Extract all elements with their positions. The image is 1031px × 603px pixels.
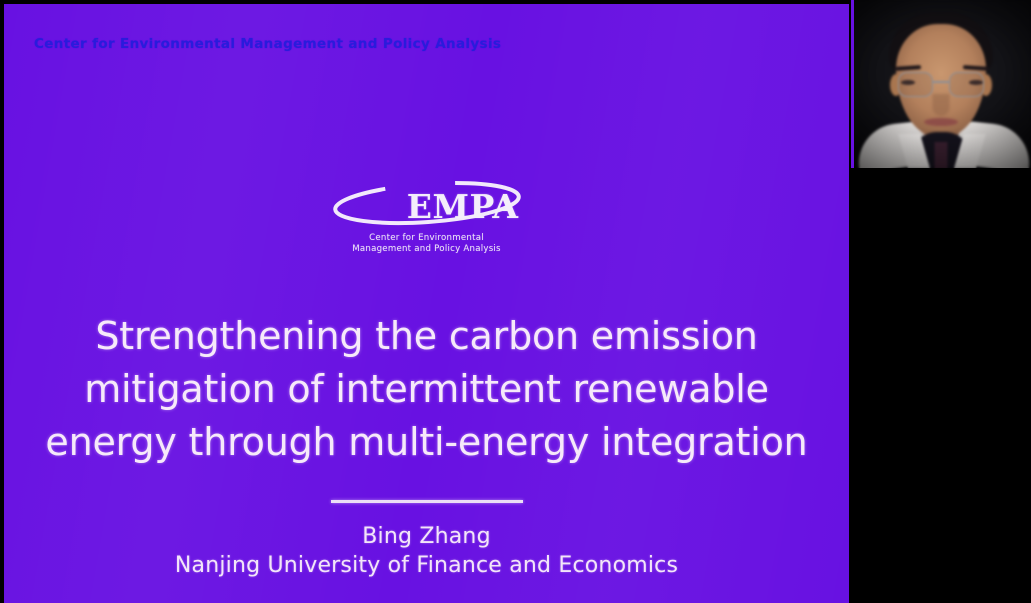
slide-header-text: Center for Environmental Management and … [34,36,501,52]
empa-logo-subtitle-line2: Management and Policy Analysis [352,244,501,255]
empa-logo: EMPA Center for Environmental Management… [4,180,849,255]
webcam-video-frame [851,0,1031,168]
author-name: Bing Zhang [44,522,809,551]
slide-author-block: Bing Zhang Nanjing University of Finance… [44,522,809,580]
slide-sheen-overlay [4,4,849,603]
webcam-video-tile[interactable] [851,0,1031,168]
empa-logo-mark: EMPA [329,180,525,232]
empa-wordmark: EMPA [329,180,525,232]
glasses-bridge [933,81,949,83]
mouth [924,118,958,126]
tie [935,142,948,168]
nose [933,94,950,116]
presentation-screen: Center for Environmental Management and … [0,0,1031,603]
presentation-slide: Center for Environmental Management and … [4,4,849,603]
empa-logo-subtitle: Center for Environmental Management and … [352,233,501,255]
slide-title-line-1: Strengthening the carbon emission [44,310,809,363]
empa-logo-subtitle-line1: Center for Environmental [352,233,501,244]
title-divider-rule [331,500,523,503]
slide-title-line-2: mitigation of intermittent renewable [44,363,809,416]
glasses-lens-right [949,72,984,97]
glasses-lens-left [898,72,933,97]
webcam-accent-bar [851,0,854,168]
slide-title: Strengthening the carbon emission mitiga… [44,310,809,469]
author-affiliation: Nanjing University of Finance and Econom… [44,551,809,580]
slide-title-line-3: energy through multi-energy integration [44,416,809,469]
